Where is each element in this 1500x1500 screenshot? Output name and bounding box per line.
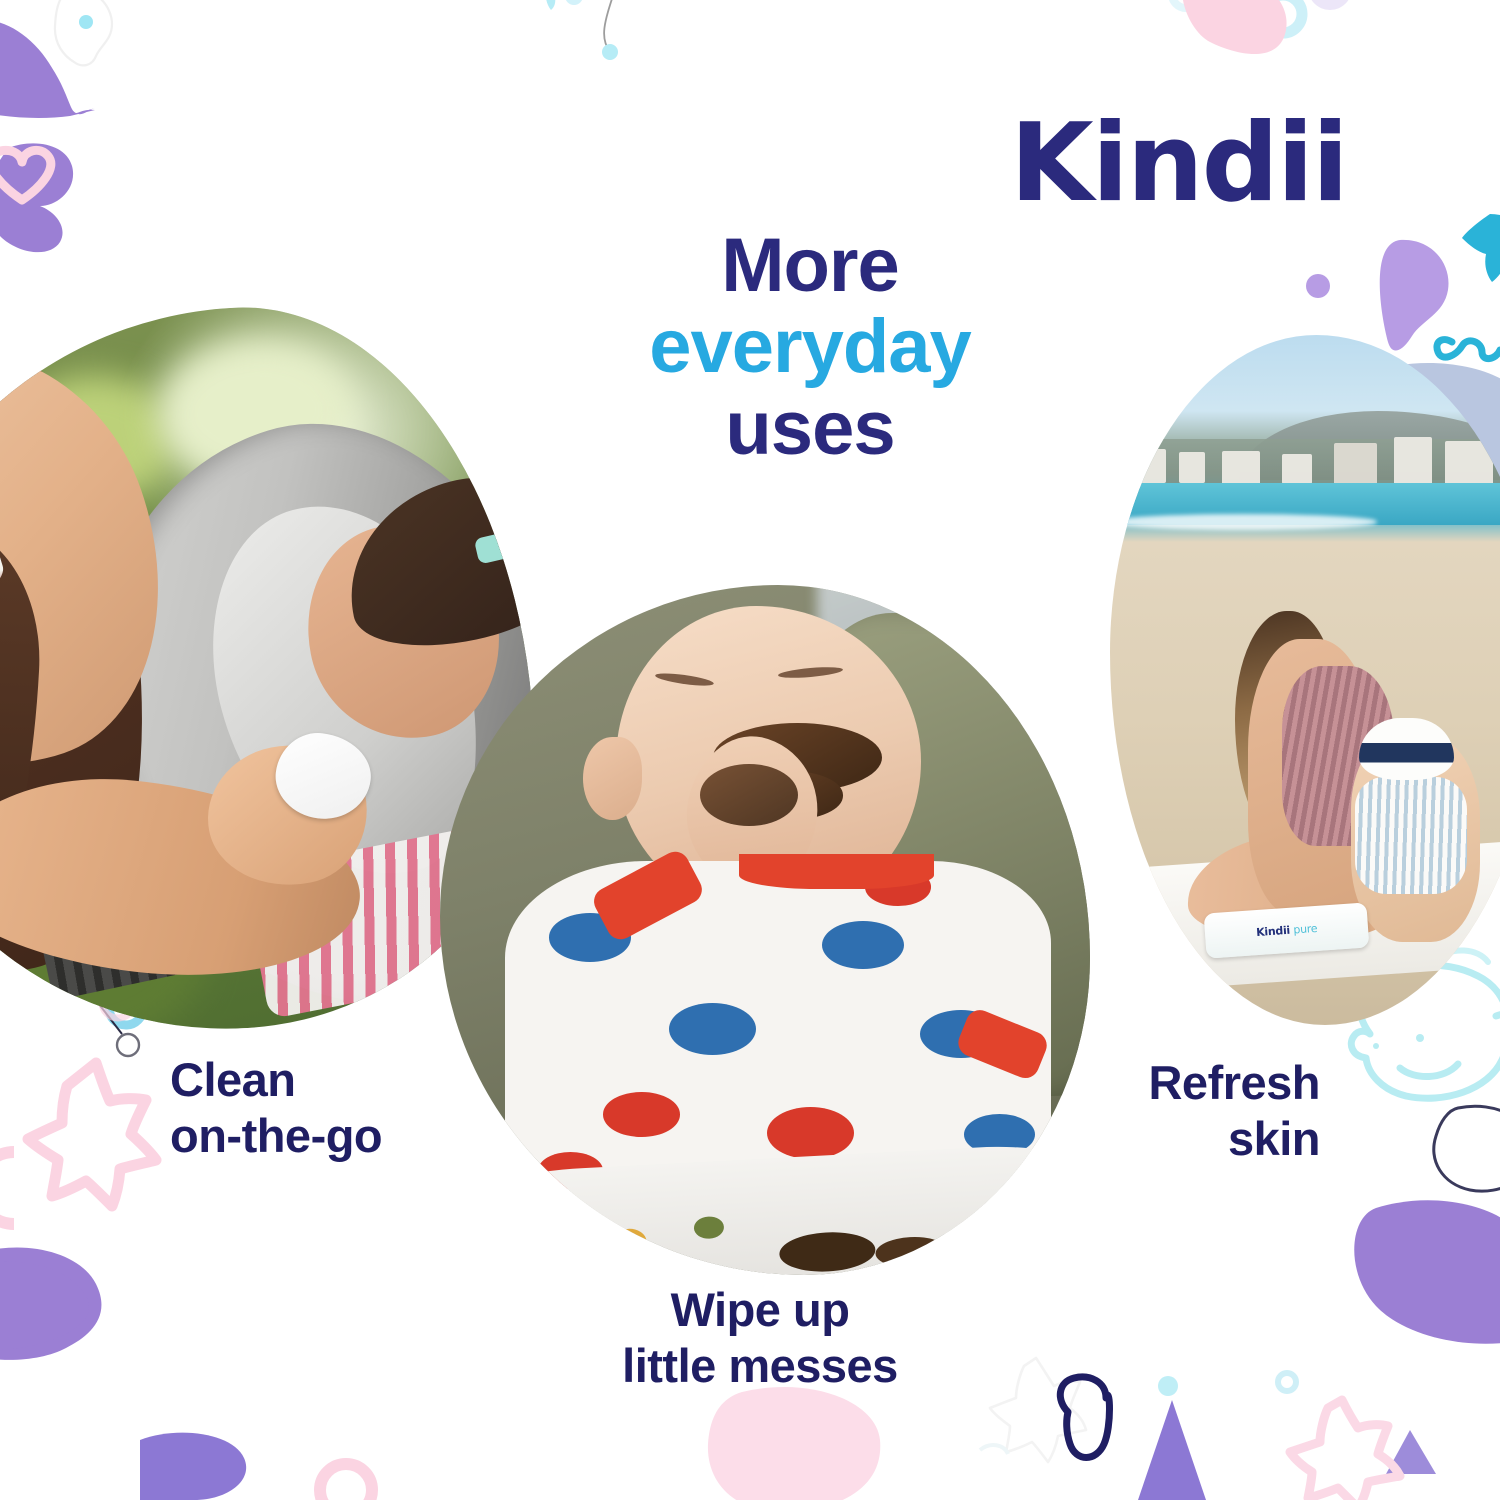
purple-triangle-bottom-icon	[1138, 1400, 1206, 1500]
brand-logo: Kindii	[1010, 110, 1347, 218]
navy-blob-outline-right-icon	[1434, 1106, 1500, 1191]
pink-ring-left-icon	[0, 1152, 14, 1224]
purple-dot-right-icon	[1306, 274, 1330, 298]
white-starfish-outline-bottom-icon	[990, 1358, 1086, 1462]
purple-teardrop-right-icon	[1380, 240, 1449, 351]
caption-clean-on-the-go: Clean on-the-go	[170, 1052, 382, 1165]
headline-line-1: More	[560, 225, 1060, 306]
purple-butterfly-blob-icon	[0, 143, 73, 252]
pink-ring-bottom-icon	[320, 1464, 372, 1500]
purple-blob-bottom-left-icon	[140, 1433, 246, 1500]
caption-refresh-skin: Refresh skin	[1010, 1055, 1320, 1168]
cyan-leaf-top-icon	[546, 0, 555, 10]
purple-blob-bottom-right-icon	[1354, 1200, 1500, 1343]
caption-wipe-up-little-messes: Wipe up little messes	[520, 1282, 1000, 1395]
pack-brand: Kindii	[1255, 923, 1290, 938]
page-title: More everyday uses	[560, 225, 1060, 469]
pink-heart-outline-left-icon	[0, 150, 51, 200]
purple-swoosh-top-left-icon	[0, 20, 95, 117]
photo-wipe-up-little-messes	[440, 585, 1090, 1275]
pink-blob-top-right-icon	[1182, 0, 1286, 54]
photo-refresh-skin: Kindii pure	[1110, 335, 1500, 1025]
poster-canvas: Kindii pure Kindii More everyday uses Cl…	[0, 0, 1500, 1500]
grey-ring-small-icon	[117, 1034, 139, 1056]
pack-variant: pure	[1293, 922, 1318, 937]
thin-curve-top-icon	[604, 0, 618, 52]
purple-swoosh-bottom-left-icon	[0, 1248, 101, 1360]
cyan-ring-top-icon	[1264, 0, 1302, 33]
navy-heart-outline-bottom-icon	[1060, 1377, 1109, 1458]
headline-line-2: everyday	[560, 306, 1060, 387]
cyan-dot-top-left-icon	[79, 15, 93, 29]
pink-blob-bottom-icon	[708, 1387, 880, 1500]
white-bulb-outline-icon	[55, 0, 112, 65]
cyan-star-right-icon	[1462, 214, 1500, 282]
pink-starfish-outline-bottom-right-icon	[1290, 1400, 1400, 1500]
pink-starfish-outline-left-icon	[28, 1063, 156, 1206]
headline-line-3: uses	[560, 388, 1060, 469]
